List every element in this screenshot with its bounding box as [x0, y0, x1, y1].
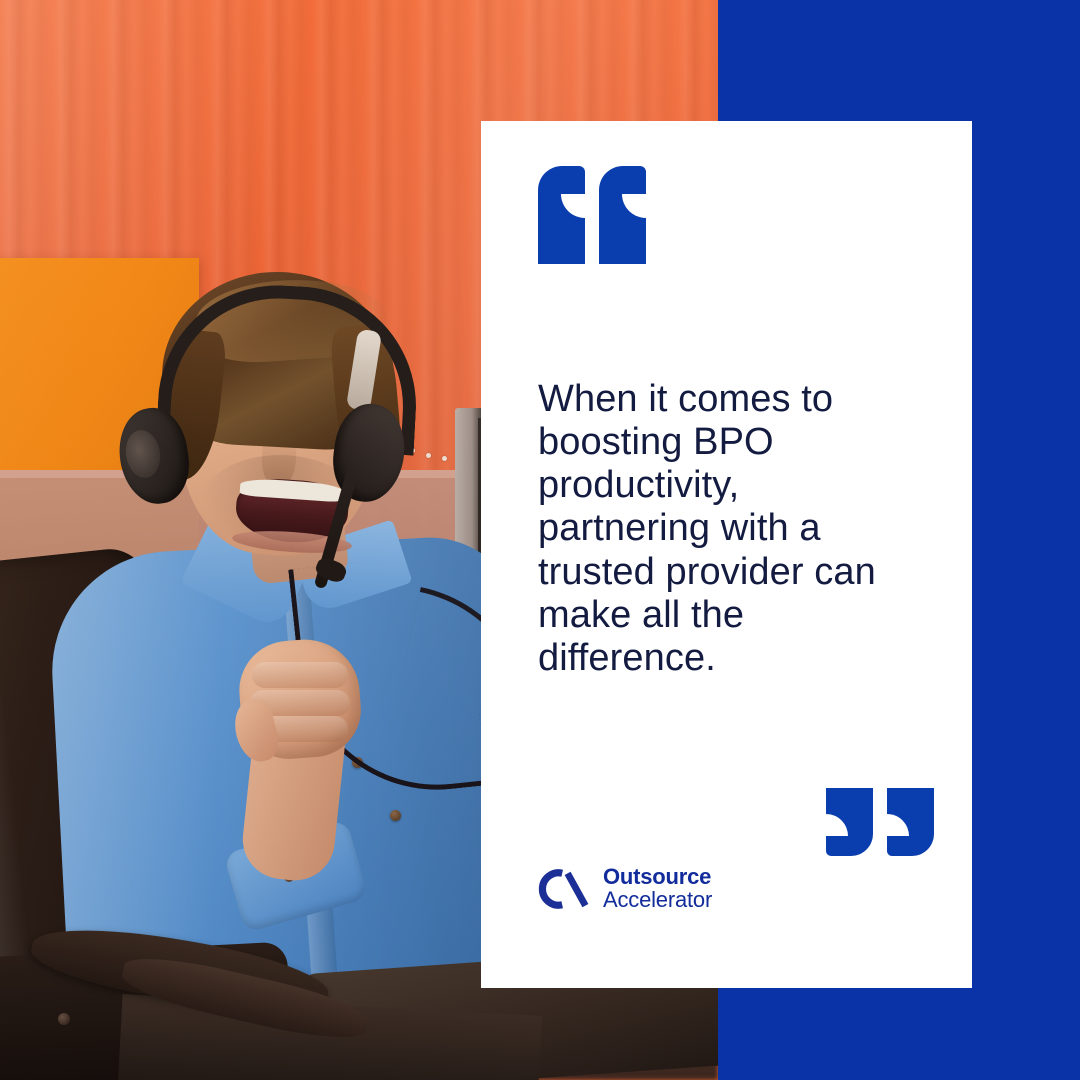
quote-text: When it comes to boosting BPO productivi… — [538, 378, 908, 680]
closing-quote-glyph-1 — [826, 788, 873, 856]
closing-quote-icon — [826, 788, 934, 856]
office-chair-bolt — [58, 1013, 70, 1025]
closing-quote-glyph-2 — [887, 788, 934, 856]
logo-line-1: Outsource — [603, 866, 712, 889]
shirt-button — [390, 810, 401, 821]
outsource-accelerator-logo[interactable]: Outsource Accelerator — [538, 866, 712, 912]
logo-line-2: Accelerator — [603, 889, 712, 912]
opening-quote-glyph-2 — [599, 166, 646, 264]
poster-canvas: When it comes to boosting BPO productivi… — [0, 0, 1080, 1080]
opening-quote-icon — [538, 166, 646, 264]
opening-quote-glyph-1 — [538, 166, 585, 264]
logo-wordmark: Outsource Accelerator — [603, 866, 712, 912]
oa-monogram-icon — [538, 867, 590, 911]
knuckle — [252, 662, 348, 688]
